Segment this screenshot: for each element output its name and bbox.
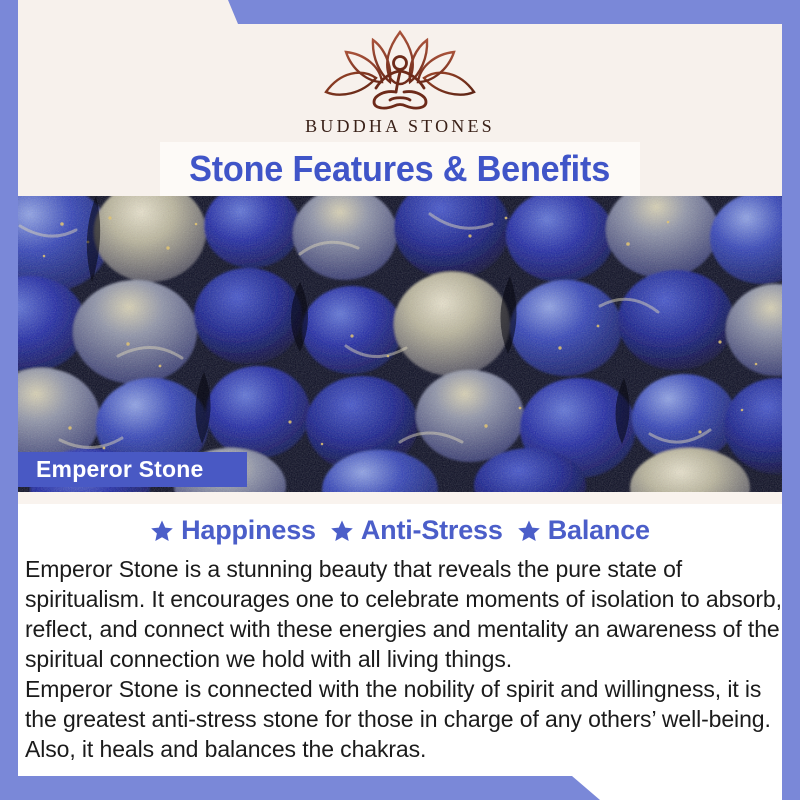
header-section: BUDDHA STONES Stone Features & Benefits	[0, 0, 800, 196]
stone-photo-illustration	[0, 196, 800, 492]
benefits-row: Happiness Anti-Stress Balance	[0, 515, 800, 546]
benefit-label: Happiness	[181, 515, 316, 546]
brand-logo: BUDDHA STONES	[0, 26, 800, 137]
stone-features-infographic: BUDDHA STONES Stone Features & Benefits	[0, 0, 800, 800]
lapis-lazuli-stones-photo	[0, 196, 800, 492]
decorative-frame-right	[782, 0, 800, 800]
stone-name-label: Emperor Stone	[36, 456, 203, 483]
body-top-tint	[0, 492, 800, 504]
decorative-frame-left	[0, 0, 18, 800]
benefit-item: Balance	[517, 515, 650, 546]
description-paragraph: Emperor Stone is connected with the nobi…	[25, 674, 785, 764]
star-icon	[150, 519, 174, 543]
title-panel: Stone Features & Benefits	[160, 142, 640, 196]
brand-wordmark: BUDDHA STONES	[0, 116, 800, 137]
stone-name-banner: Emperor Stone	[18, 452, 247, 487]
star-icon	[330, 519, 354, 543]
description-paragraphs: Emperor Stone is a stunning beauty that …	[25, 554, 785, 764]
description-paragraph: Emperor Stone is a stunning beauty that …	[25, 554, 785, 674]
benefit-label: Anti-Stress	[361, 515, 503, 546]
benefit-item: Anti-Stress	[330, 515, 503, 546]
benefit-item: Happiness	[150, 515, 316, 546]
benefit-label: Balance	[548, 515, 650, 546]
description-section: Happiness Anti-Stress Balance	[0, 492, 800, 800]
lotus-meditation-figure-icon	[310, 26, 490, 112]
page-title: Stone Features & Benefits	[190, 148, 611, 190]
star-icon	[517, 519, 541, 543]
